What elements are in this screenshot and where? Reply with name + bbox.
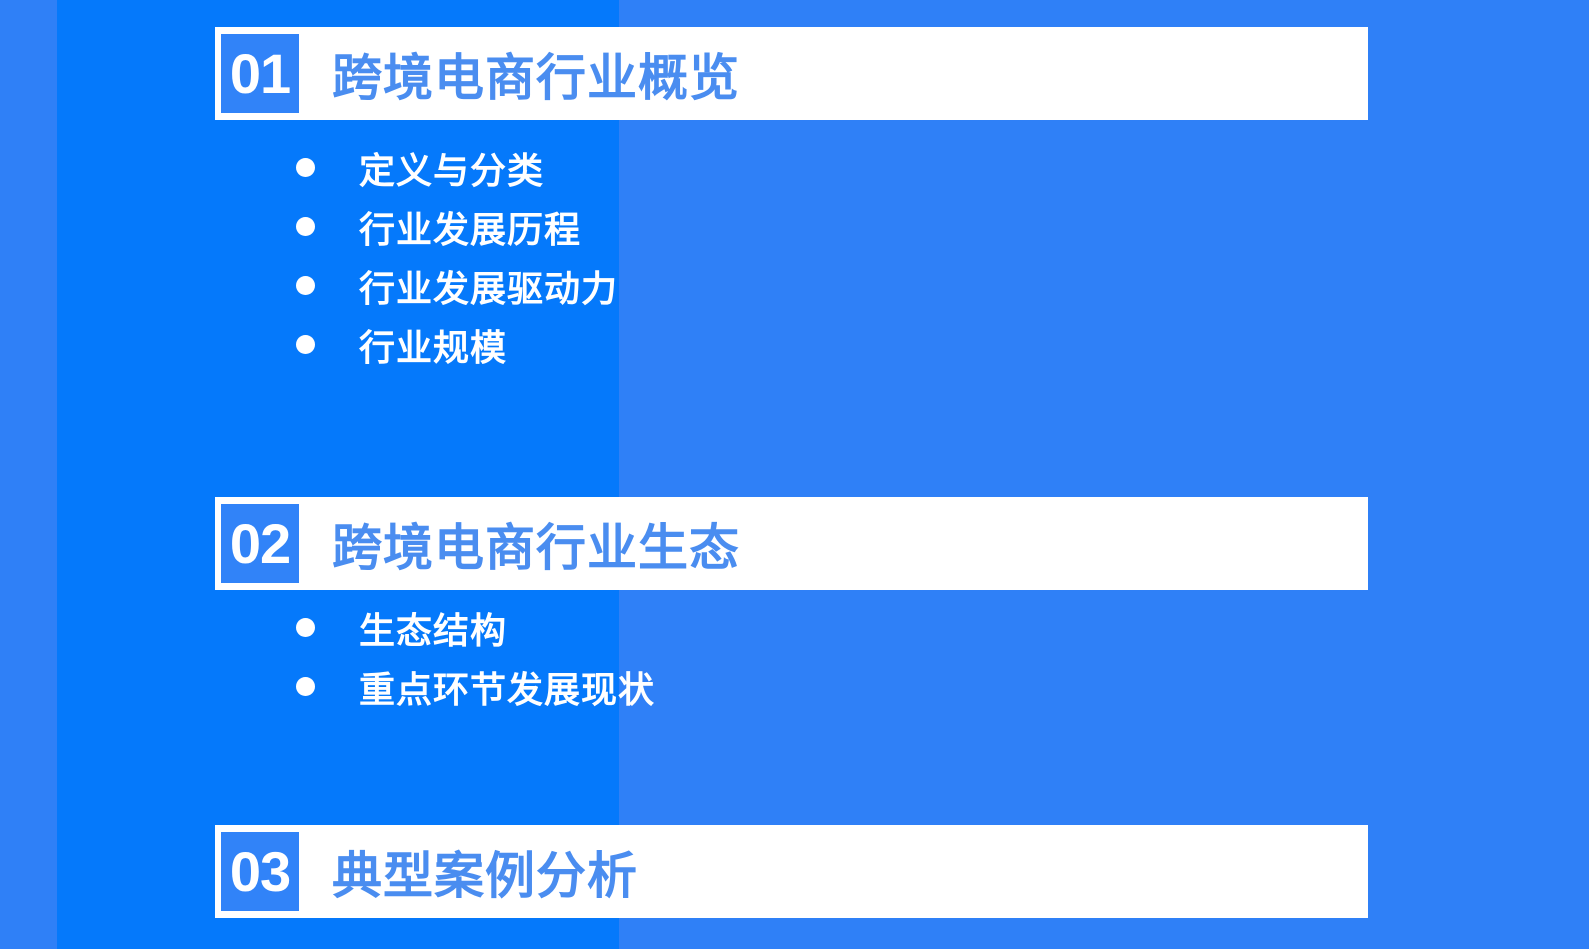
list-item-label: 行业发展历程 xyxy=(359,201,581,253)
section-header-bar[interactable]: 03 典型案例分析 xyxy=(215,825,1368,918)
bullet-dot-icon xyxy=(296,158,315,177)
section-number-badge: 02 xyxy=(221,504,299,583)
list-item-label: 生态结构 xyxy=(359,602,507,654)
bullet-dot-icon xyxy=(296,276,315,295)
list-item[interactable]: 行业规模 xyxy=(296,315,618,374)
list-item[interactable]: 行业发展驱动力 xyxy=(296,256,618,315)
bullet-dot-icon xyxy=(296,618,315,637)
list-item[interactable]: 定义与分类 xyxy=(296,138,618,197)
bullet-dot-icon xyxy=(296,677,315,696)
list-item[interactable]: 重点环节发展现状 xyxy=(296,657,655,716)
section-number-badge: 01 xyxy=(221,34,299,113)
section-title: 跨境电商行业生态 xyxy=(332,508,740,580)
list-item-label: 行业发展驱动力 xyxy=(359,260,618,312)
bullet-dot-icon xyxy=(296,217,315,236)
section-title: 跨境电商行业概览 xyxy=(332,38,740,110)
agenda-slide: 01 跨境电商行业概览 定义与分类 行业发展历程 行业发展驱动力 行业规模 xyxy=(0,0,1589,949)
section-title: 典型案例分析 xyxy=(332,836,638,908)
list-item[interactable]: 行业发展历程 xyxy=(296,197,618,256)
section-number-badge: 03 xyxy=(221,832,299,911)
section-bullet-list: 定义与分类 行业发展历程 行业发展驱动力 行业规模 xyxy=(296,138,618,374)
bullet-dot-icon xyxy=(296,335,315,354)
section-bullet-list: 生态结构 重点环节发展现状 xyxy=(296,598,655,716)
list-item-label: 重点环节发展现状 xyxy=(359,661,655,713)
list-item-label: 行业规模 xyxy=(359,319,507,371)
section-header-bar[interactable]: 01 跨境电商行业概览 xyxy=(215,27,1368,120)
list-item-label: 定义与分类 xyxy=(359,142,544,194)
list-item[interactable]: 生态结构 xyxy=(296,598,655,657)
section-header-bar[interactable]: 02 跨境电商行业生态 xyxy=(215,497,1368,590)
